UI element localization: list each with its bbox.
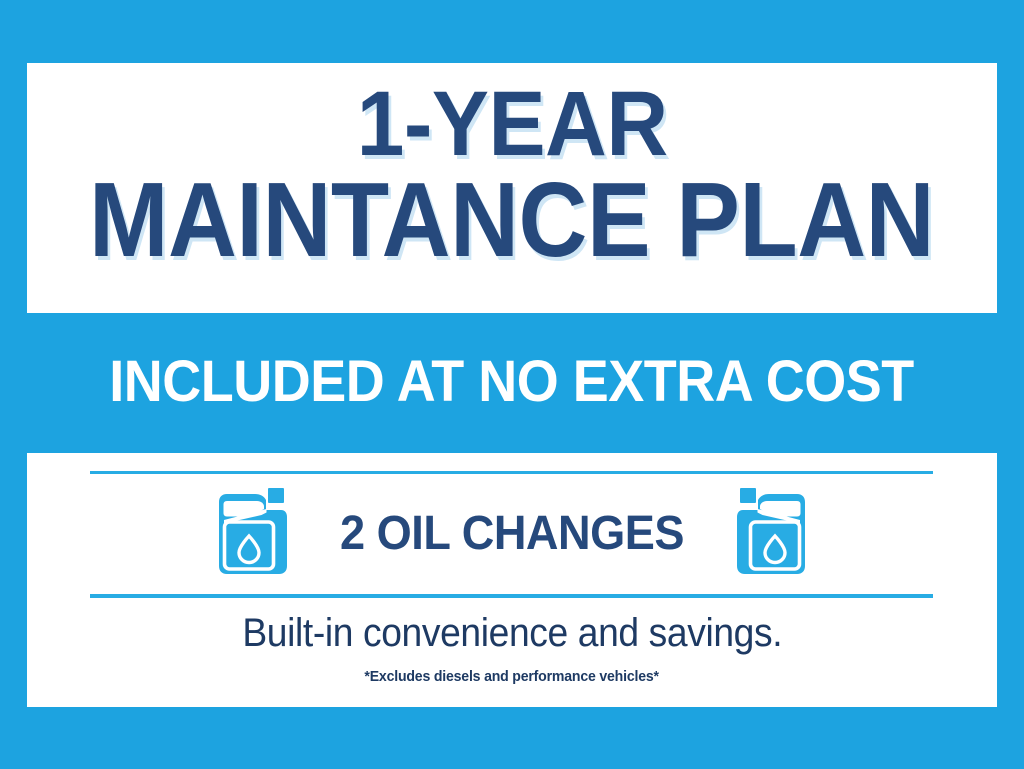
feature-row: 2 OIL CHANGES (27, 477, 997, 591)
subtitle-text: INCLUDED AT NO EXTRA COST (110, 353, 914, 411)
oil-jug-icon-left (211, 486, 289, 583)
tagline-text: Built-in convenience and savings. (242, 610, 782, 656)
promo-poster: 1-YEAR MAINTANCE PLAN INCLUDED AT NO EXT… (0, 0, 1024, 769)
tagline: Built-in convenience and savings. (27, 610, 997, 656)
disclaimer: *Excludes diesels and performance vehicl… (27, 668, 997, 685)
subtitle-band: INCLUDED AT NO EXTRA COST (0, 318, 1024, 446)
divider-top (90, 471, 933, 474)
oil-jug-icon-right (735, 486, 813, 583)
headline-card: 1-YEAR MAINTANCE PLAN (27, 63, 997, 313)
disclaimer-text: *Excludes diesels and performance vehicl… (365, 668, 659, 685)
feature-label: 2 OIL CHANGES (340, 510, 684, 558)
headline-line-2: MAINTANCE PLAN (89, 170, 934, 271)
divider-bottom (90, 594, 933, 598)
headline-line-1: 1-YEAR (356, 81, 667, 168)
details-card: 2 OIL CHANGES Built-in conve (27, 453, 997, 707)
